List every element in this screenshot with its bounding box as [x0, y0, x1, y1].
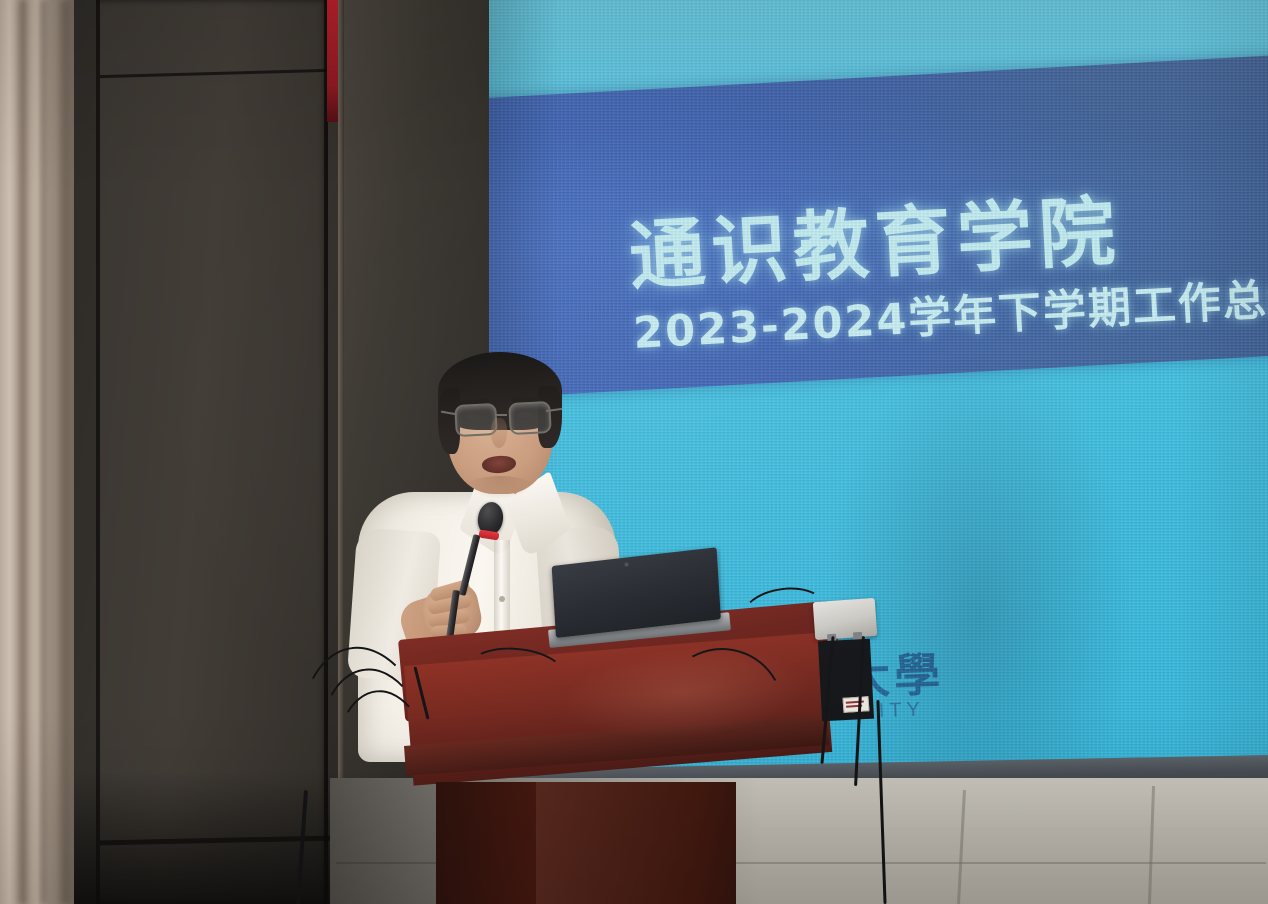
- glasses-bridge: [495, 414, 507, 416]
- laptop-camera: [624, 562, 628, 566]
- curtain-fold: [40, 0, 47, 904]
- acoustic-wall-panel: [96, 0, 328, 904]
- curtain-fold: [18, 0, 27, 904]
- presenter-nose: [491, 418, 507, 448]
- shirt-button: [499, 596, 505, 602]
- glasses-lens-right: [508, 401, 552, 435]
- equipment-label-sticker: [843, 696, 870, 713]
- presenter-chin-shadow: [466, 476, 534, 498]
- curtain-fold: [60, 0, 70, 904]
- panel-seam: [96, 0, 100, 904]
- podium-base-front: [436, 782, 536, 904]
- presentation-photo: 通识教育学院 2023-2024学年下学期工作总结 大學 RSITY: [0, 0, 1268, 904]
